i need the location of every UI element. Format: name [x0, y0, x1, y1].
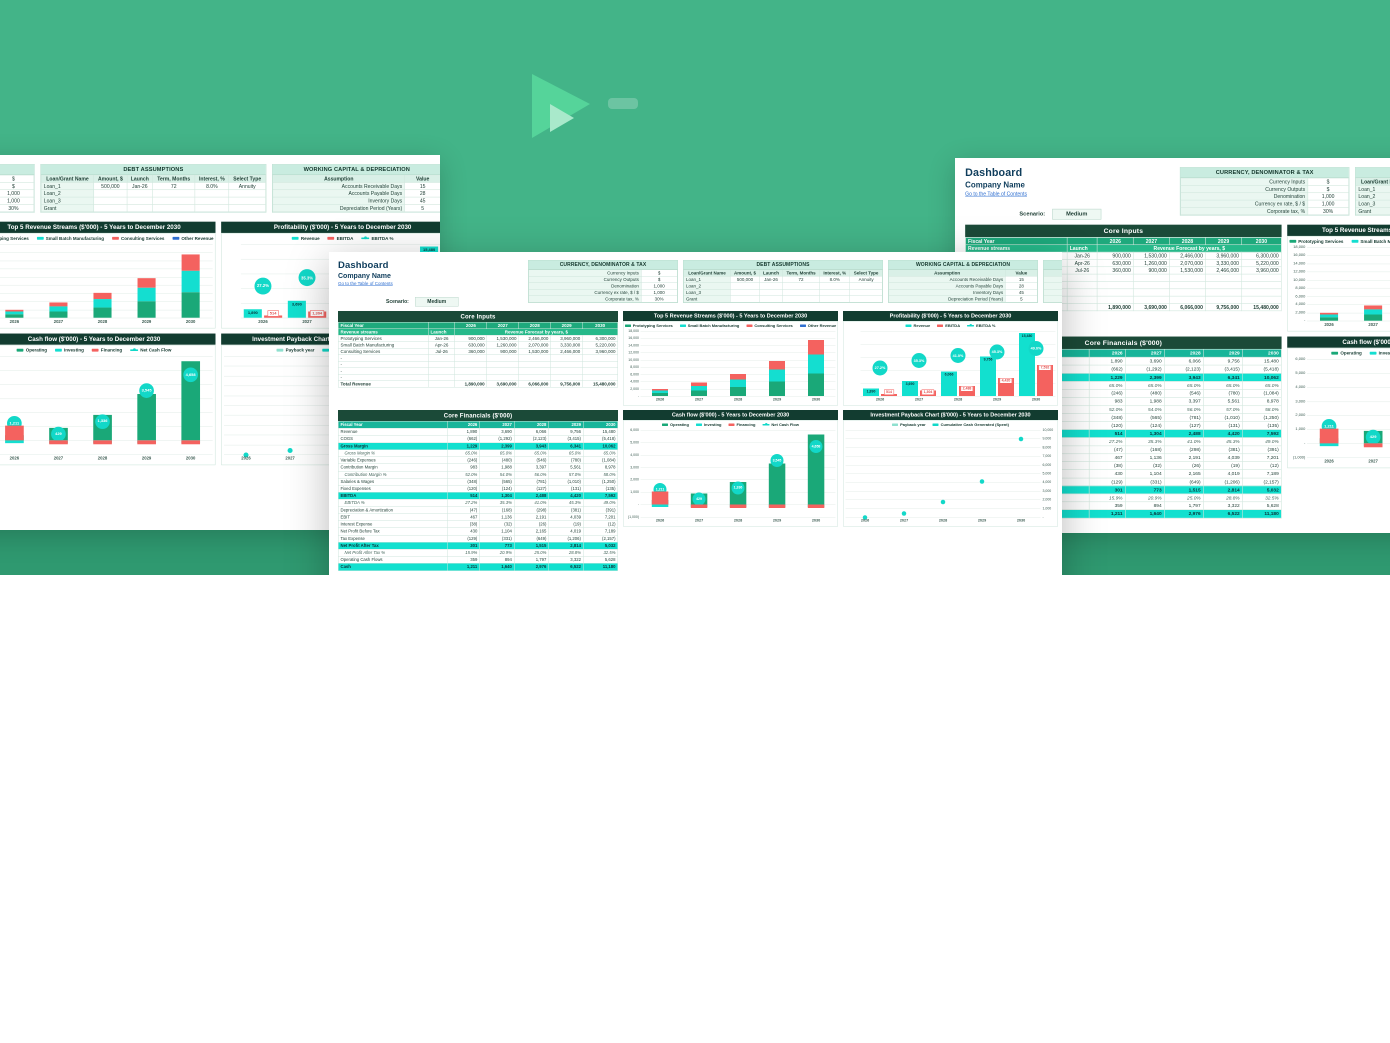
debt-panel: DEBT ASSUMPTIONS Loan/Grant NameAmount, … [683, 260, 883, 303]
legend-swatch [746, 325, 752, 328]
bar-segment [5, 314, 24, 318]
row-value[interactable]: 1,000 [0, 190, 34, 197]
cell: 2,976 [514, 563, 549, 570]
debt-table: Loan/Grant NameAmount, $LaunchTerm, Mont… [684, 270, 883, 303]
cell[interactable] [195, 190, 229, 197]
legend-label: Net Cash Flow [140, 348, 171, 353]
bar-segment [730, 387, 746, 396]
cell[interactable] [229, 197, 266, 204]
cell: 10,062 [583, 443, 618, 450]
table-row: Inventory Days45 [273, 197, 440, 204]
row-label: Currency Inputs [1181, 178, 1308, 185]
column-header: Term, Months [153, 175, 195, 182]
bar-segment [691, 390, 707, 396]
table-row: Interest Expense(38)(32)(26)(19)(12) [338, 521, 618, 528]
cell[interactable] [153, 204, 195, 211]
cell: 15.9% [448, 549, 480, 556]
stacked-bar [652, 389, 668, 396]
data-point-bubble: 45.3% [990, 344, 1005, 359]
cell[interactable]: Loan_3 [1356, 200, 1390, 207]
x-axis: 20262027202820292030 [1307, 459, 1390, 468]
x-tick: 2028 [939, 397, 978, 405]
cell: 514 [1089, 430, 1125, 438]
bar-segment [137, 440, 156, 444]
bar-column [1307, 247, 1351, 320]
x-axis: 20262027202820292030 [0, 319, 213, 328]
table-of-contents-link[interactable]: Go to the Table of Contents [338, 281, 393, 286]
row-value[interactable]: 5 [1005, 296, 1037, 303]
cell: 1,797 [514, 556, 549, 563]
currency-table: Currency Inputs$Currency Outputs$Denomin… [1180, 178, 1348, 215]
key-metrics-title: KEY METRICS [1044, 261, 1063, 270]
legend-swatch [55, 349, 62, 352]
cell[interactable]: Grant [41, 204, 94, 211]
bar-segment [1320, 429, 1339, 443]
cell[interactable]: 72 [153, 182, 195, 189]
cell[interactable] [229, 190, 266, 197]
cell: 4,019 [549, 528, 584, 535]
ready-badge [608, 98, 638, 109]
y-axis: 18,00016,00014,00012,00010,0008,0006,000… [624, 329, 641, 396]
legend-label: EBITDA % [372, 236, 394, 241]
bar-segment [730, 380, 746, 387]
table-header-row: Loan/Grant NameAmount, $LaunchTerm, Mont… [41, 175, 265, 182]
cell: 3,690 [480, 428, 515, 435]
cell: 3,397 [1164, 397, 1203, 405]
cell[interactable]: Loan_1 [41, 182, 94, 189]
plot-area [0, 244, 213, 317]
cell: (1,084) [1242, 389, 1281, 397]
table-row: Loan_1500,000Jan-26728.0%Annuity [1356, 185, 1390, 192]
y-tick: - [1304, 319, 1305, 323]
cell[interactable] [195, 204, 229, 211]
key-metrics-table: KPIValue Return on Equity (ROE)13.84Inte… [1044, 270, 1063, 303]
scenario-label: Scenario: [386, 299, 409, 305]
column-header: Term, Months [782, 270, 819, 277]
company-name: Company Name [338, 272, 528, 280]
cell: (2,157) [1242, 478, 1281, 486]
company-name: Company Name [965, 180, 1180, 189]
legend-swatch [933, 424, 939, 427]
row-label: Denomination [1181, 193, 1308, 200]
cell: 3,943 [514, 443, 549, 450]
cell[interactable]: Loan_3 [41, 197, 94, 204]
y-tick: 8,000 [1295, 286, 1305, 290]
cell[interactable]: Grant [1356, 207, 1390, 214]
cashflow-legend: OperatingInvestingFinancingNet Cash Flow [624, 421, 838, 429]
cell: 467 [1089, 454, 1125, 462]
cell: 359 [1089, 502, 1125, 510]
dashboard-header: Dashboard Company Name Go to the Table o… [965, 167, 1390, 220]
y-tick: 1,000 [1043, 507, 1052, 511]
legend-item: Small Batch Manufacturing [37, 236, 104, 241]
y-axis: 18,00016,00014,00012,00010,0008,0006,000… [1288, 245, 1307, 321]
data-point-bubble: 49.0% [1029, 341, 1044, 356]
data-point [941, 500, 946, 505]
row-label: Minimum Cash ($'000) [1044, 296, 1062, 303]
cell: 45.3% [549, 499, 584, 506]
table-row: Denomination1,000 [1181, 193, 1349, 200]
debt-table: Loan/Grant NameAmount, $LaunchTerm, Mont… [41, 175, 266, 212]
cell: 359 [448, 556, 480, 563]
cell: 65.0% [583, 450, 618, 457]
table-row: Accounts Payable Days28 [273, 190, 440, 197]
cell[interactable]: Annuity [229, 182, 266, 189]
x-tick: 2026 [1307, 322, 1351, 331]
cell: 514 [448, 492, 480, 499]
cell: 4,420 [549, 492, 584, 499]
row-value[interactable]: $ [1308, 178, 1349, 185]
cell: (298) [514, 507, 549, 514]
table-row: Depreciation Period (Years)5 [273, 204, 440, 211]
legend-swatch [625, 325, 631, 328]
cell[interactable] [127, 204, 153, 211]
cell[interactable]: 8.0% [195, 182, 229, 189]
cell[interactable] [782, 296, 819, 303]
cell: 7,189 [583, 528, 618, 535]
x-tick: 2027 [36, 319, 80, 328]
cell: 65.0% [514, 450, 549, 457]
y-tick: 2,000 [1295, 311, 1305, 315]
cell[interactable] [153, 190, 195, 197]
data-point-bubble: 3,545 [771, 454, 784, 467]
currency-panel-title: CURRENCY, DENOMINATOR & TAX [1180, 168, 1348, 178]
brand-logo [528, 58, 888, 153]
y-axis [222, 242, 241, 318]
cell: 57.0% [549, 471, 584, 478]
cell: (480) [1125, 389, 1164, 397]
cell: (135) [1242, 422, 1281, 430]
cell: (649) [514, 535, 549, 542]
cell: (12) [1242, 462, 1281, 470]
row-value[interactable]: $ [1308, 185, 1349, 192]
table-row: COGS(662)(1,292)(2,123)(3,415)(5,418) [338, 435, 618, 442]
scenario-value[interactable]: Medium [1052, 209, 1102, 220]
cell[interactable] [850, 296, 882, 303]
bar-column [641, 331, 680, 396]
cell: 773 [1125, 486, 1164, 494]
cell[interactable] [153, 197, 195, 204]
table-row: Salaries & Wages(348)(565)(781)(1,010)(1… [338, 478, 618, 485]
cell[interactable]: Loan_1 [1356, 185, 1390, 192]
payback-legend: Payback yearCumulative Cash Generated (S… [844, 421, 1058, 429]
table-row: Loan_1500,000Jan-26728.0%Annuity [41, 182, 265, 189]
legend-label: Prototyping Services [633, 324, 673, 329]
row-value[interactable]: 5 [405, 204, 440, 211]
top5-legend: Prototyping ServicesSmall Batch Manufact… [624, 322, 838, 330]
profitability-chart-title: Profitability ($'000) - 5 Years to Decem… [221, 222, 440, 233]
cell: 27.2% [448, 499, 480, 506]
table-row[interactable]: Small Batch ManufacturingApr-26630,0001,… [338, 342, 618, 349]
scenario-selector[interactable]: Scenario: Medium [965, 209, 1180, 220]
row-label: Depreciation Period (Years) [889, 296, 1006, 303]
top5-revenue-chart: Prototyping ServicesSmall Batch Manufact… [0, 233, 216, 328]
legend-swatch [967, 325, 974, 327]
legend-item: Consulting Services [112, 236, 165, 241]
legend-label: Consulting Services [754, 324, 792, 329]
bar-segment [181, 271, 200, 292]
cell[interactable] [94, 204, 127, 211]
x-tick: 2026 [0, 456, 36, 465]
table-row: Cash1,2111,6402,9766,52211,180 [338, 563, 618, 570]
cell: (32) [480, 521, 515, 528]
y-tick: 4,000 [1043, 480, 1052, 484]
row-value[interactable]: $ [0, 175, 34, 182]
bar-column [758, 331, 797, 396]
cell: (168) [1125, 446, 1164, 454]
cell: 57.0% [1203, 405, 1242, 413]
legend-label: Small Batch Manufacturing [688, 324, 740, 329]
row-value[interactable]: 1,000 [0, 197, 34, 204]
table-row: Grant [1356, 207, 1390, 214]
column-header: Interest, % [195, 175, 229, 182]
cell: (5,418) [583, 435, 618, 442]
cell: 2,399 [480, 443, 515, 450]
stacked-bar [137, 278, 156, 318]
cell: 65.0% [480, 450, 515, 457]
debt-panel-title: DEBT ASSUMPTIONS [41, 165, 266, 175]
data-point-bubble: 3,545 [139, 383, 154, 398]
legend-swatch [277, 349, 284, 352]
cell: 983 [1089, 397, 1125, 405]
cell: 7,201 [1242, 454, 1281, 462]
table-row: Loan_2 [41, 190, 265, 197]
data-point-bubble: 4,658 [183, 368, 198, 383]
bar-segment [93, 299, 112, 307]
bar-column [36, 244, 80, 317]
row-value[interactable]: 45 [405, 197, 440, 204]
cell: 15,480 [583, 428, 618, 435]
dashboard-title: Dashboard [338, 260, 528, 271]
scenario-value[interactable]: Medium [415, 297, 459, 307]
legend-label: Investing [64, 348, 84, 353]
line-overlay [861, 331, 1056, 396]
bar-segment [1320, 317, 1339, 321]
y-tick: 12,000 [628, 351, 639, 355]
cell[interactable] [730, 296, 759, 303]
y-tick: 8,000 [1043, 446, 1052, 450]
cell[interactable]: Loan_2 [41, 190, 94, 197]
table-of-contents-link[interactable]: Go to the Table of Contents [965, 191, 1027, 197]
cell: (3,415) [1203, 365, 1242, 373]
table-row: Minimum Cash ($'000)1,159.6 [1044, 296, 1062, 303]
row-value[interactable]: 30% [1308, 207, 1349, 214]
y-tick: 18,000 [1293, 245, 1305, 249]
cell: 11,180 [583, 563, 618, 570]
cell: (1,010) [1203, 414, 1242, 422]
legend-item: Net Cash Flow [130, 348, 171, 353]
cell: (38) [1089, 462, 1125, 470]
row-label: Variable Expenses [338, 457, 447, 464]
cell[interactable]: 500,000 [94, 182, 127, 189]
legend-item: Consulting Services [746, 324, 792, 329]
cell: 983 [448, 464, 480, 471]
table-row[interactable]: Prototyping ServicesJan-26900,0001,530,0… [338, 335, 618, 342]
cell[interactable] [94, 190, 127, 197]
row-label: Depreciation & Amortization [338, 507, 447, 514]
x-tick: 2028 [719, 397, 758, 405]
legend-item: Cumulative Cash Generated (Spent) [933, 423, 1009, 428]
legend-label: Operating [670, 423, 689, 428]
table-row: Loan_2 [1356, 193, 1390, 200]
column-header: Value [405, 175, 440, 182]
cell: (135) [583, 485, 618, 492]
cell: 41.0% [1164, 438, 1203, 446]
row-label: Accounts Receivable Days [273, 182, 405, 189]
x-tick: 2027 [885, 518, 924, 526]
row-value[interactable]: 30% [641, 296, 677, 303]
legend-item: EBITDA % [361, 236, 393, 241]
cell: 32.5% [583, 549, 618, 556]
cell: 2,814 [549, 542, 584, 549]
cell: (2,123) [514, 435, 549, 442]
bar-segment [808, 505, 824, 508]
cell: 3,397 [514, 464, 549, 471]
cell[interactable] [94, 197, 127, 204]
cell: (480) [480, 457, 515, 464]
table-row[interactable]: Consulting ServicesJul-26360,000900,0001… [338, 348, 618, 355]
table-subheader-row: Revenue streamsLaunchRevenue Forecast by… [965, 245, 1281, 252]
bar-column [719, 331, 758, 396]
cell: 4,039 [1203, 454, 1242, 462]
cell[interactable] [195, 197, 229, 204]
top5-revenue-chart: Prototyping ServicesSmall Batch Manufact… [623, 321, 838, 406]
total-row: Total Revenue1,890,0003,690,0006,066,000… [338, 381, 618, 388]
cell: 6,341 [549, 443, 584, 450]
x-tick: 2030 [1017, 397, 1056, 405]
cell: (32) [1125, 462, 1164, 470]
cell: 1,797 [1164, 502, 1203, 510]
cell[interactable]: Grant [684, 296, 731, 303]
table-row: Loan_3 [41, 197, 265, 204]
cell: 1,304 [1125, 430, 1164, 438]
cell: (348) [448, 478, 480, 485]
y-tick: - [638, 394, 639, 398]
row-label: Net Profit After Tax [338, 542, 447, 549]
cell: (391) [583, 507, 618, 514]
row-value[interactable]: $ [0, 182, 34, 189]
x-tick: 2027 [36, 456, 80, 465]
legend-item: Payback year [277, 348, 315, 353]
table-row: Variable Expenses(246)(480)(546)(780)(1,… [338, 457, 618, 464]
cell[interactable] [820, 296, 850, 303]
row-value[interactable]: 28 [405, 190, 440, 197]
x-tick: 2026 [846, 518, 885, 526]
dashboard-screenshot[interactable]: Dashboard Company Name Go to the Table o… [329, 252, 1062, 575]
table-row: Contribution Margin %52.0%54.0%56.0%57.0… [338, 471, 618, 478]
cell: 467 [448, 514, 480, 521]
cell: 7,201 [583, 514, 618, 521]
cell: 3,322 [549, 556, 584, 563]
cell[interactable] [229, 204, 266, 211]
cell: (124) [480, 485, 515, 492]
cell: 65.0% [1125, 381, 1164, 389]
cell: (131) [1203, 422, 1242, 430]
cell: 301 [1089, 486, 1125, 494]
legend-label: Payback year [286, 348, 315, 353]
debt-panel-title: DEBT ASSUMPTIONS [1356, 168, 1390, 178]
table-header-row: Fiscal Year20262027202820292030 [965, 237, 1281, 244]
legend-item: EBITDA [937, 324, 960, 329]
cell: 25.0% [1164, 494, 1203, 502]
row-label: EBIT [338, 514, 447, 521]
row-value[interactable]: 30% [0, 204, 34, 211]
scenario-selector[interactable]: Scenario: Medium [338, 297, 528, 307]
cell[interactable] [127, 190, 153, 197]
legend-item: Prototyping Services [0, 236, 29, 241]
cell[interactable]: Jan-26 [127, 182, 153, 189]
cell: 6,522 [1203, 510, 1242, 518]
cell: 5,561 [549, 464, 584, 471]
x-tick: 2030 [797, 397, 836, 405]
dashboard-page: Dashboard Company Name Go to the Table o… [329, 252, 1062, 575]
row-value[interactable]: 1,000 [1308, 193, 1349, 200]
x-tick: 2026 [641, 397, 680, 405]
cell: 1,104 [1125, 470, 1164, 478]
row-label: Net Profit After Tax % [338, 549, 447, 556]
y-tick: 2,000 [630, 387, 639, 391]
cell: 9,756 [549, 428, 584, 435]
row-value[interactable]: 1,000 [1308, 200, 1349, 207]
cell: (1,084) [583, 457, 618, 464]
cell[interactable] [127, 197, 153, 204]
legend-item: EBITDA % [967, 324, 995, 329]
y-axis [844, 329, 861, 396]
cell: 65.0% [1089, 381, 1125, 389]
profitability-chart-title: Profitability ($'000) - 5 Years to Decem… [843, 311, 1058, 321]
legend-item: Payback year [892, 423, 926, 428]
bar-segment [769, 505, 785, 508]
legend-swatch [172, 237, 179, 240]
currency-panel-title: CURRENCY, DENOMINATOR & TAX [529, 261, 678, 270]
x-tick: 2030 [169, 456, 213, 465]
cell: 894 [1125, 502, 1164, 510]
cell: (129) [1089, 478, 1125, 486]
cell[interactable]: Loan_2 [1356, 193, 1390, 200]
legend-swatch [1331, 352, 1338, 355]
cell: (131) [549, 485, 584, 492]
legend-item: Prototyping Services [1289, 239, 1343, 244]
table-row: EBITDA5141,3042,4884,4207,592 [338, 492, 618, 499]
legend-swatch [906, 325, 912, 328]
cell: (780) [549, 457, 584, 464]
cell: 2,488 [1164, 430, 1203, 438]
table-row: Gross Margin %65.0%65.0%65.0%65.0%65.0% [338, 450, 618, 457]
cell: (12) [583, 521, 618, 528]
cell: 6,341 [1203, 373, 1242, 381]
data-point [1019, 437, 1024, 442]
legend-label: Financing [737, 423, 756, 428]
working-capital-title: WORKING CAPITAL & DEPRECIATION [273, 165, 440, 175]
cell: 65.0% [1203, 381, 1242, 389]
x-tick: 2029 [758, 518, 797, 526]
bar-segment [137, 302, 156, 318]
row-value[interactable]: 15 [405, 182, 440, 189]
table-header-row: Loan/Grant NameAmount, $LaunchTerm, Mont… [1356, 178, 1390, 185]
cell[interactable] [760, 296, 783, 303]
y-tick: 10,000 [1043, 428, 1054, 432]
legend-item: Operating [1331, 351, 1361, 356]
working-capital-table: AssumptionValue Accounts Receivable Days… [273, 175, 440, 212]
cell: (565) [1125, 414, 1164, 422]
legend-swatch [1351, 240, 1358, 243]
cashflow-legend: OperatingInvestingFinancingNet Cash Flow [1288, 348, 1390, 356]
cell: 2,165 [514, 528, 549, 535]
y-tick: 4,000 [630, 453, 639, 457]
legend-swatch [361, 237, 369, 239]
cell: (120) [448, 485, 480, 492]
legend-label: Other Revenue [181, 236, 213, 241]
